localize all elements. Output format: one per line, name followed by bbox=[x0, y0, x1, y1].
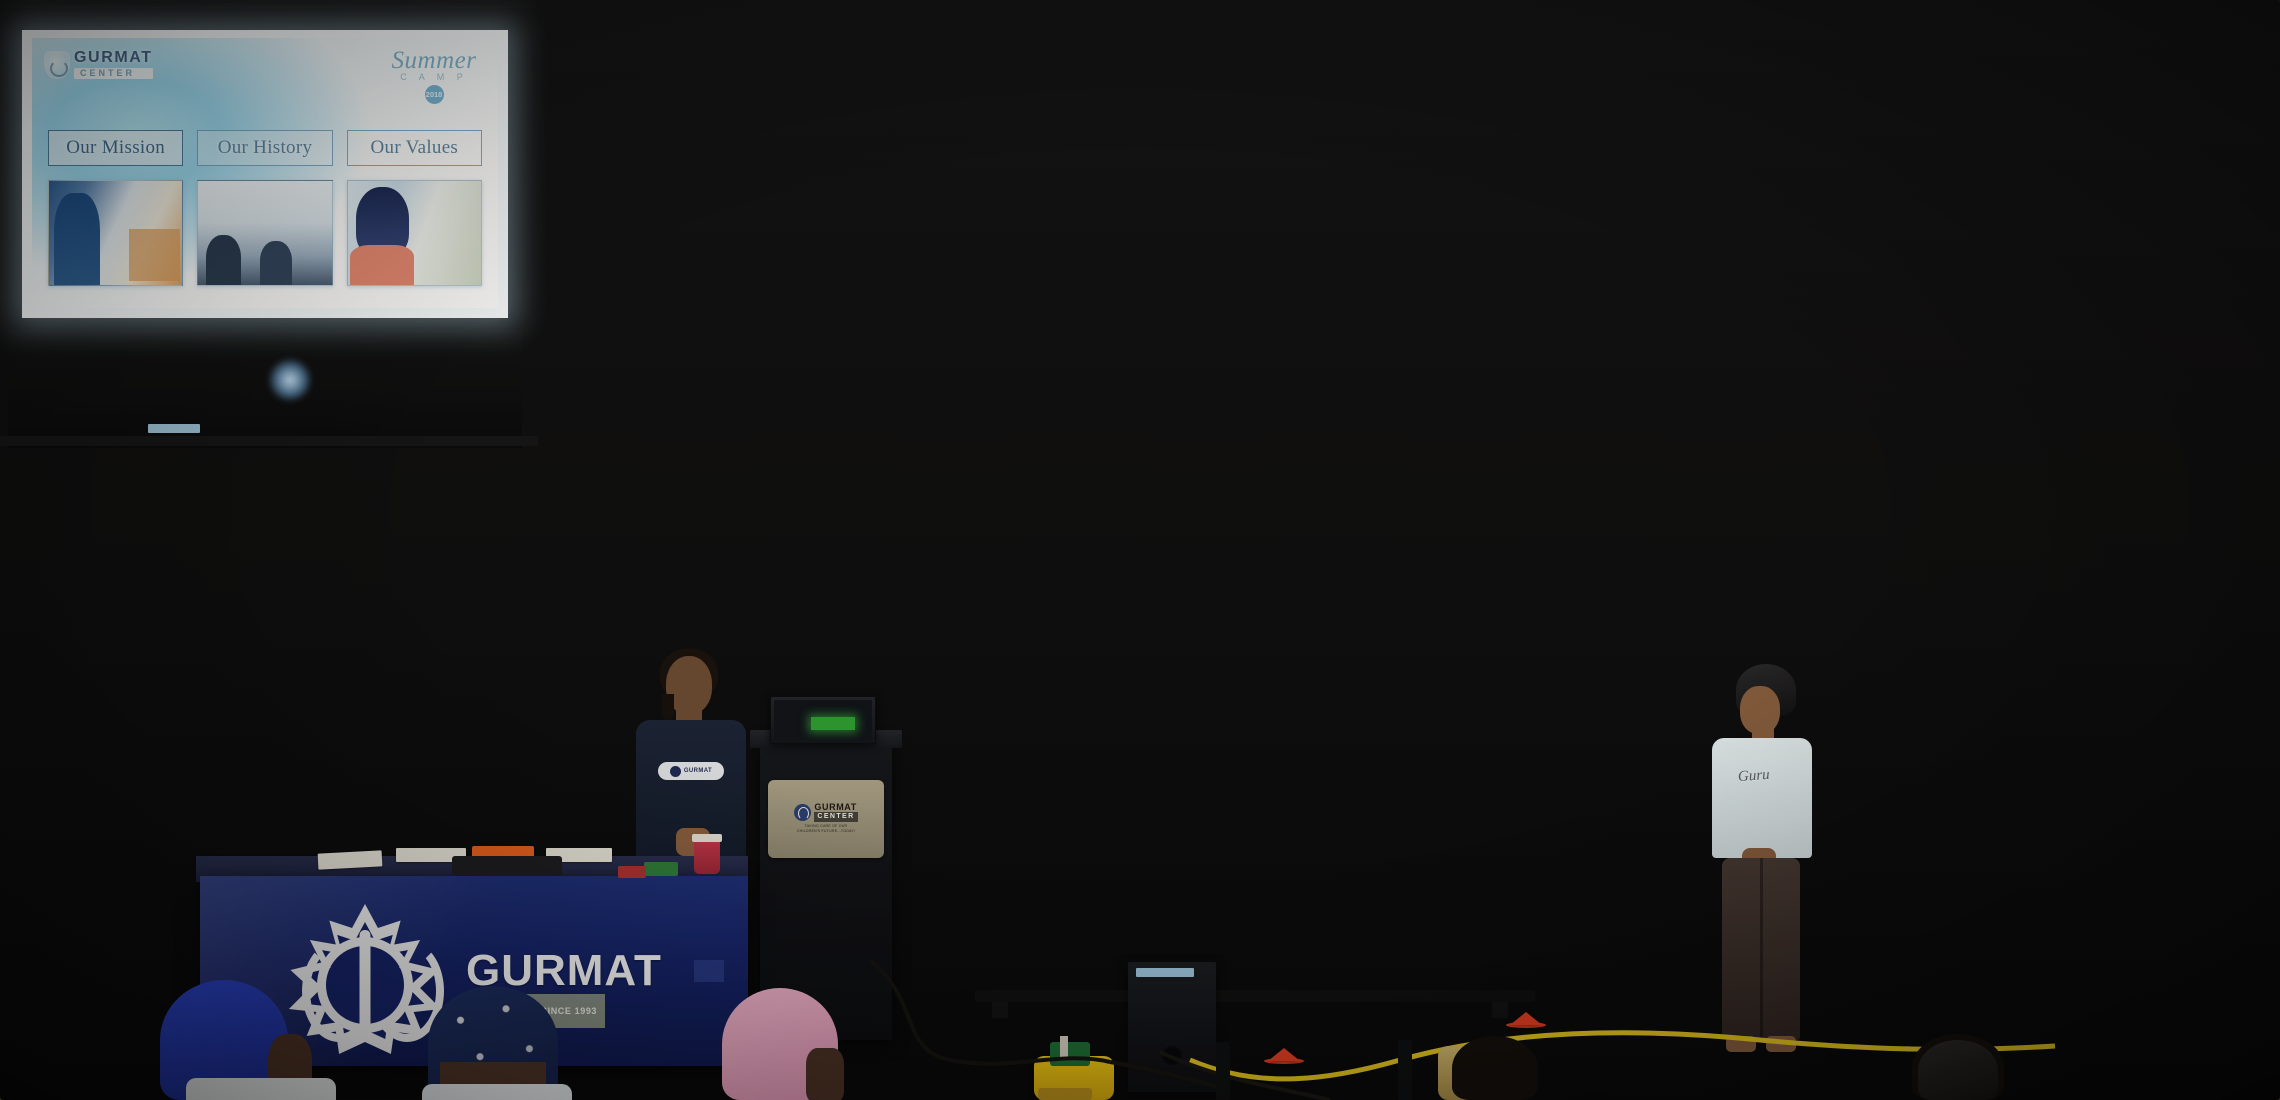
screen-canvas: GURMAT CENTER Summer C A M P 2018 Our Mi… bbox=[22, 30, 508, 318]
slide-photo-history bbox=[197, 180, 332, 286]
presenter-hair-strand bbox=[662, 694, 674, 720]
sweatshirt-brand: GURMAT bbox=[684, 768, 712, 774]
gurmat-shield-icon bbox=[44, 51, 70, 79]
slide-photo-values bbox=[347, 180, 482, 286]
khanda-kirpan-left bbox=[302, 940, 376, 1042]
slide-logo: GURMAT CENTER bbox=[44, 50, 153, 79]
audience-child-pink-neck bbox=[806, 1048, 844, 1100]
photo-scene: one DOMINOS PLAYDOH bbox=[0, 0, 2280, 1100]
table-dark-case bbox=[452, 856, 562, 876]
audience-child-far-right-hair bbox=[1918, 1040, 1998, 1100]
summer-camp-year-badge: 2018 bbox=[425, 85, 444, 104]
summer-camp-word: Summer bbox=[386, 48, 482, 73]
screen-lower-panel bbox=[8, 330, 522, 448]
cable-black bbox=[870, 960, 1110, 1064]
banner-corner-logo bbox=[694, 960, 724, 982]
slide-logo-subbrand: CENTER bbox=[74, 68, 153, 79]
khanda-icon bbox=[670, 766, 681, 777]
presenter-laptop[interactable] bbox=[770, 696, 876, 744]
projector-hotspot bbox=[268, 358, 312, 402]
drink-cup bbox=[694, 838, 720, 874]
drink-cup-lid bbox=[692, 834, 722, 842]
student-tshirt bbox=[1712, 738, 1812, 858]
audience-child-bandana-shirt bbox=[422, 1084, 572, 1100]
projection-screen[interactable]: GURMAT CENTER Summer C A M P 2018 Our Mi… bbox=[0, 0, 530, 455]
table-paper bbox=[318, 850, 383, 869]
slide-logo-brand: GURMAT bbox=[74, 50, 153, 66]
student-tshirt-text: Guru bbox=[1737, 767, 1770, 786]
slide-photo-mission bbox=[48, 180, 183, 286]
slide-button-our-history[interactable]: Our History bbox=[197, 130, 332, 166]
screen-brand-label bbox=[148, 424, 200, 433]
slide-photo-row bbox=[48, 180, 482, 286]
laptop-screen bbox=[774, 700, 872, 740]
khanda-maple-leaf-icon bbox=[284, 904, 446, 1054]
presenter-sweatshirt-logo: GURMAT bbox=[658, 762, 724, 780]
summer-camp-logo: Summer C A M P 2018 bbox=[386, 48, 482, 104]
slide-button-our-values[interactable]: Our Values bbox=[347, 130, 482, 166]
cord-reel-base bbox=[1038, 1088, 1092, 1100]
mic-stand-base bbox=[1216, 1042, 1230, 1100]
podium-plaque: GURMAT CENTER TAKING CARE OF OUR CHILDRE… bbox=[768, 780, 884, 858]
summer-camp-camp: C A M P bbox=[386, 72, 482, 82]
table-red-item bbox=[618, 866, 646, 878]
screen-top-bar bbox=[0, 0, 536, 8]
mic-stand-base bbox=[1398, 1040, 1412, 1100]
presentation-slide[interactable]: GURMAT CENTER Summer C A M P 2018 Our Mi… bbox=[32, 38, 498, 308]
plaque-subbrand: CENTER bbox=[814, 812, 857, 821]
plaque-brand: GURMAT bbox=[814, 803, 857, 812]
audience-child-blue-shirt bbox=[186, 1078, 336, 1100]
audience-child-right bbox=[1452, 1036, 1538, 1100]
laptop-screen-highlight bbox=[811, 717, 855, 731]
slide-button-our-mission[interactable]: Our Mission bbox=[48, 130, 183, 166]
khanda-icon bbox=[794, 804, 811, 821]
slide-nav-row: Our Mission Our History Our Values bbox=[48, 130, 482, 166]
plaque-tagline-2: CHILDREN'S FUTURE...TODAY! bbox=[797, 829, 855, 834]
table-green-item bbox=[644, 862, 678, 876]
screen-base-bar bbox=[0, 436, 538, 446]
